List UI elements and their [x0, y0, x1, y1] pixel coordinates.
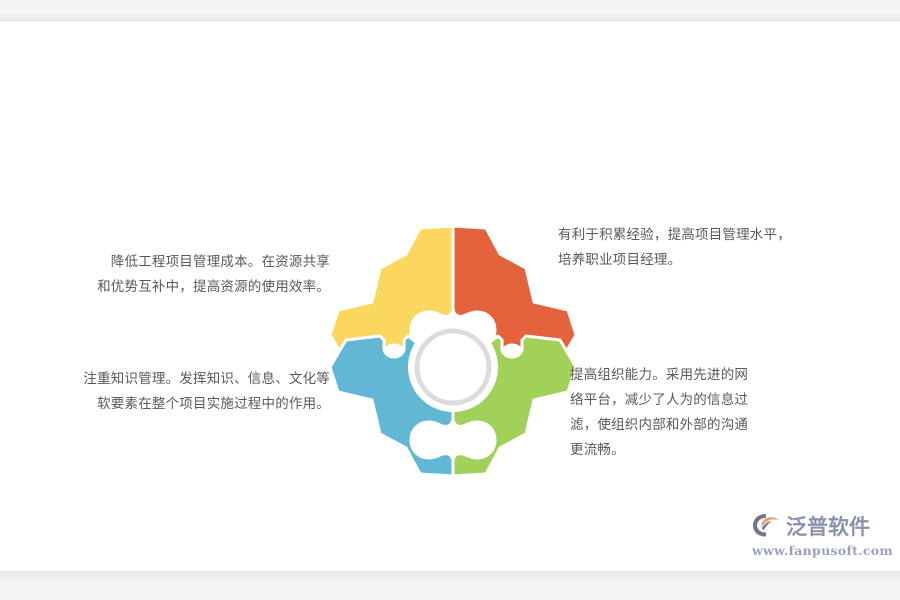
caption-bottom-left: 注重知识管理。发挥知识、信息、文化等 软要素在整个项目实施过程中的作用。: [40, 367, 330, 417]
caption-top-left: 降低工程项目管理成本。在资源共享 和优势互补中，提高资源的使用效率。: [40, 250, 330, 300]
watermark: 泛普软件 www.fanpusoft.com: [752, 512, 882, 560]
fanpu-logo-icon: [752, 512, 782, 542]
bottom-chrome-band: [0, 571, 900, 600]
top-chrome-band: [0, 0, 900, 21]
jigsaw-diagram: [328, 210, 578, 490]
watermark-url: www.fanpusoft.com: [752, 543, 882, 558]
caption-bottom-right: 提高组织能力。采用先进的网 络平台，减少了人为的信息过 滤，使组织内部和外部的沟…: [570, 363, 770, 463]
watermark-brand: 泛普软件: [786, 515, 870, 539]
infographic-stage: 降低工程项目管理成本。在资源共享 和优势互补中，提高资源的使用效率。 有利于积累…: [0, 20, 900, 572]
center-ring-inner: [422, 336, 484, 398]
caption-top-right: 有利于积累经验，提高项目管理水平， 培养职业项目经理。: [558, 223, 848, 273]
screenshot-canvas: 降低工程项目管理成本。在资源共享 和优势互补中，提高资源的使用效率。 有利于积累…: [0, 0, 900, 600]
